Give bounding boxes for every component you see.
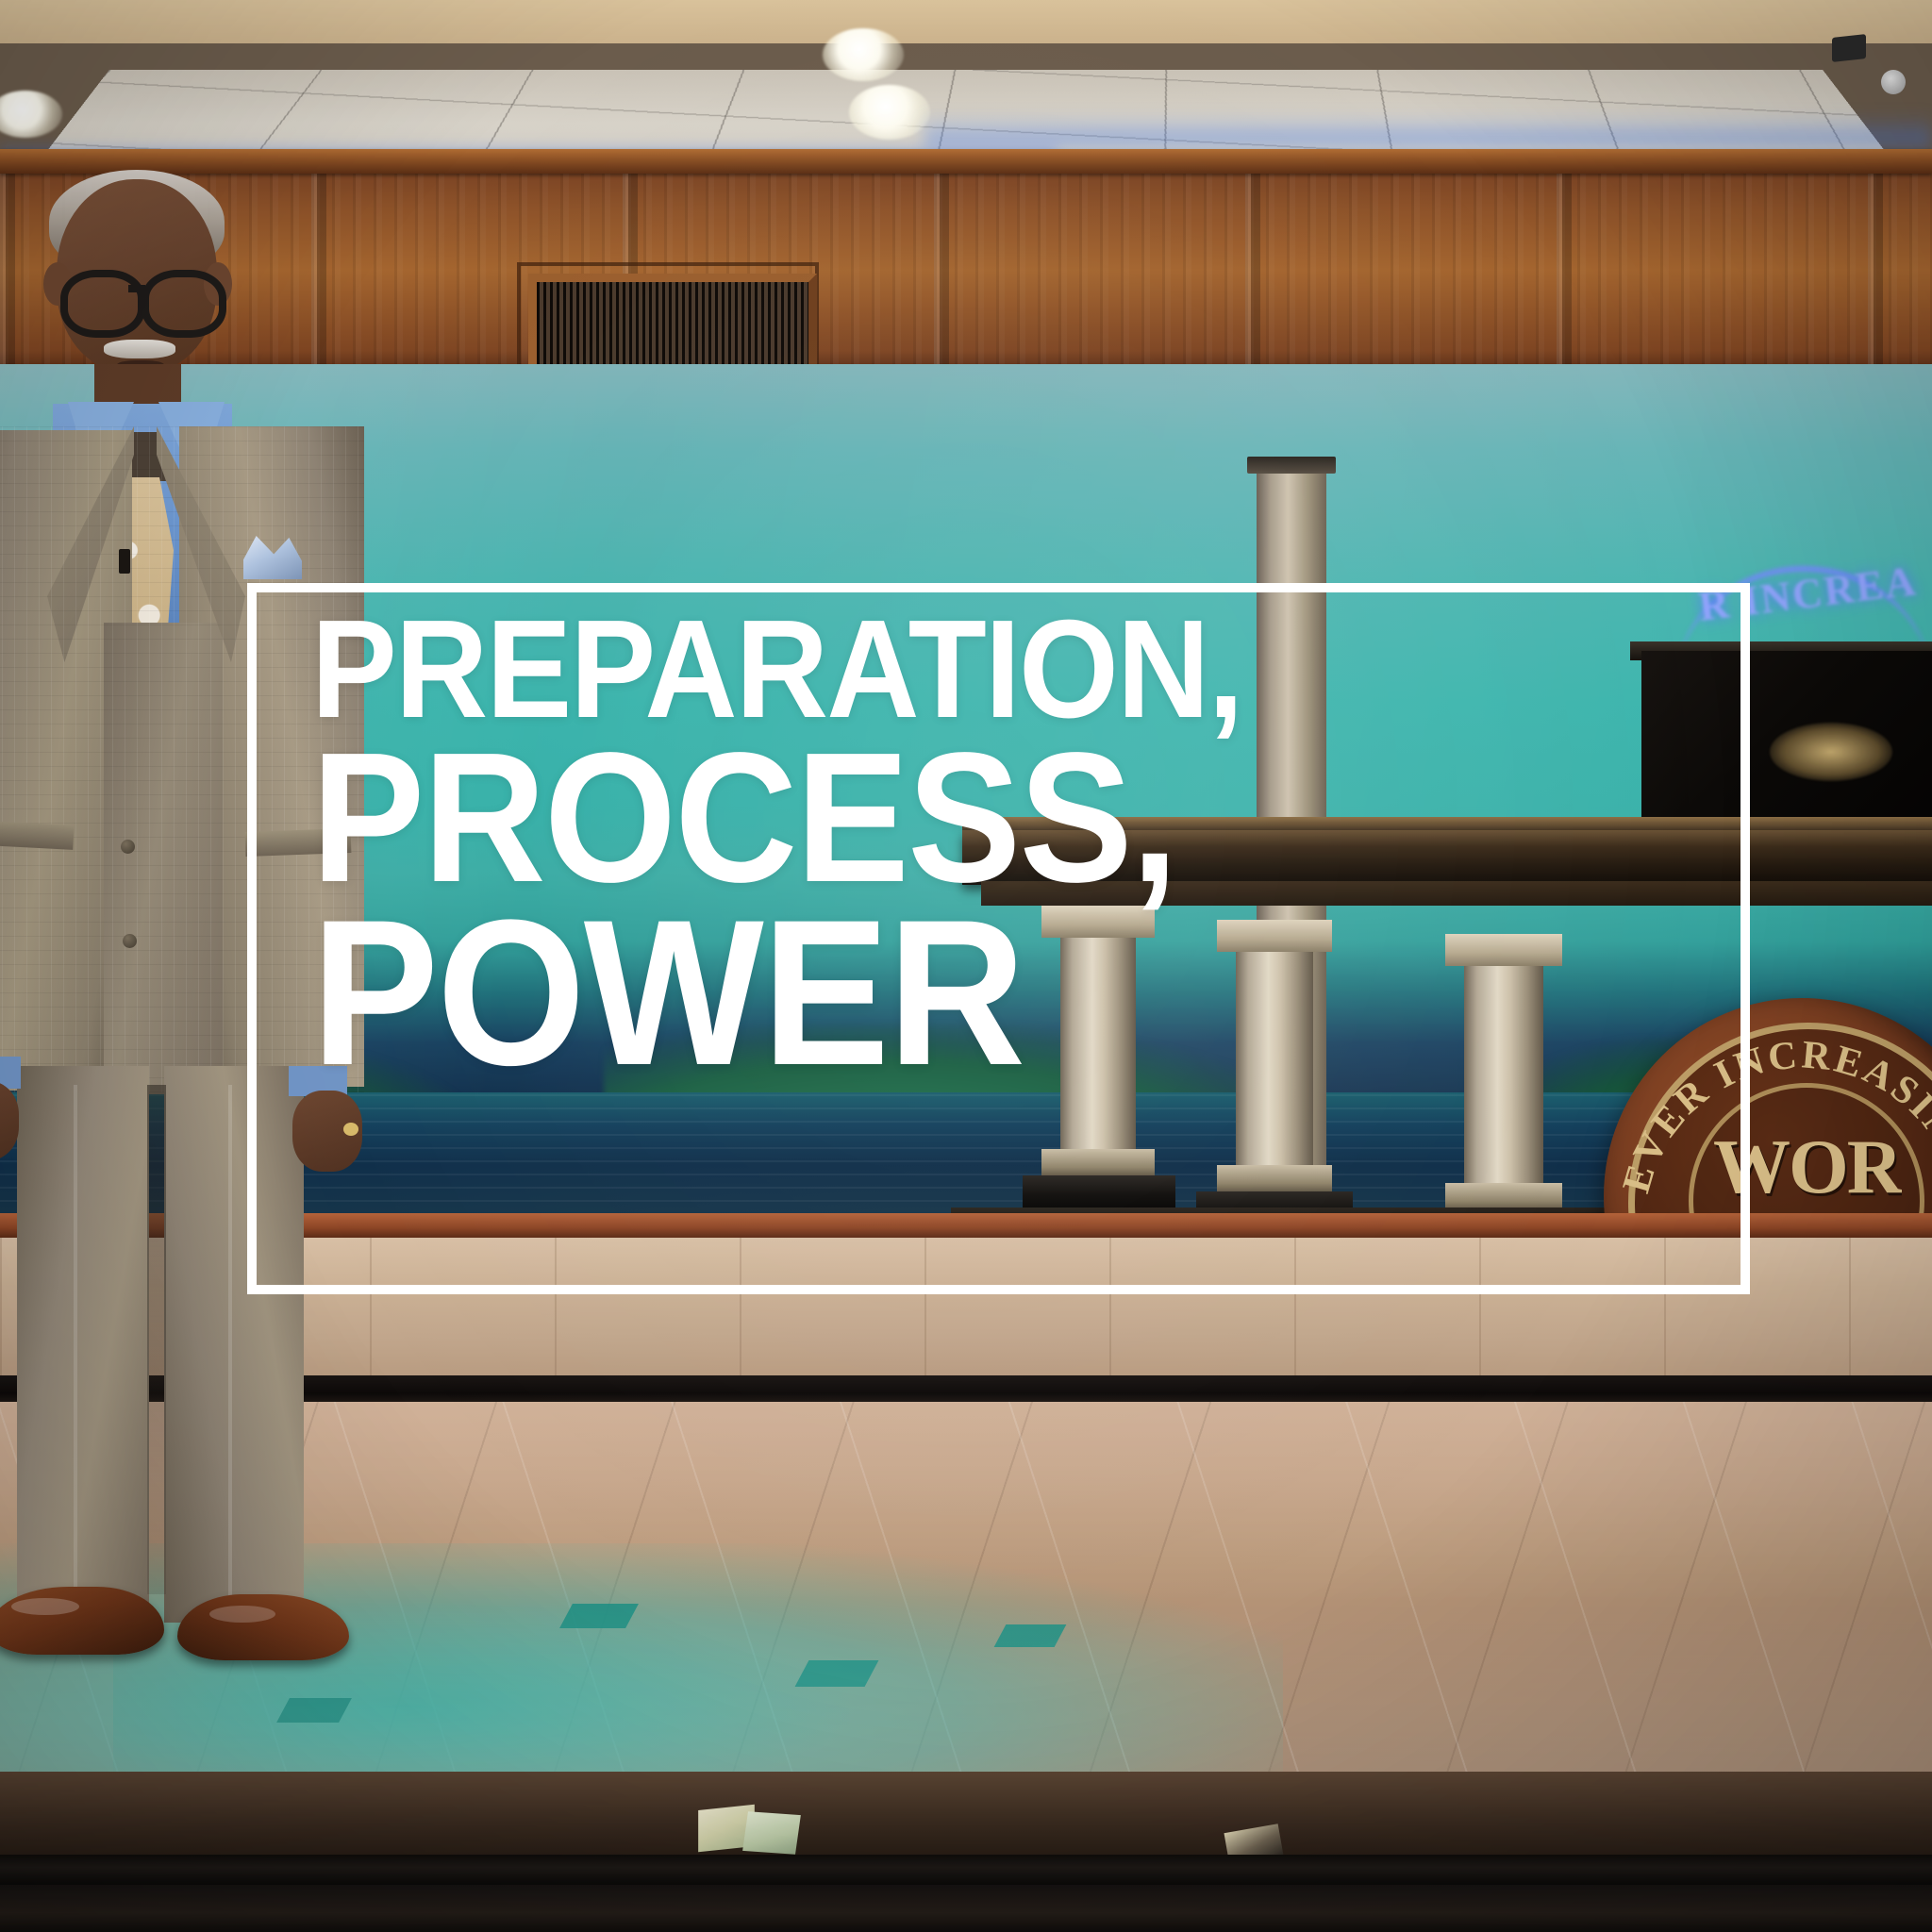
mustache bbox=[104, 340, 175, 358]
shoe-highlight-right bbox=[209, 1606, 275, 1623]
ceiling-light-icon bbox=[849, 85, 930, 140]
jacket-button bbox=[123, 934, 137, 948]
offering-bill bbox=[742, 1811, 801, 1855]
hand-left bbox=[0, 1081, 19, 1160]
title-line-3: POWER bbox=[311, 904, 1648, 1082]
title-line-2: PROCESS, bbox=[311, 739, 1648, 898]
trouser-inseam-shadow bbox=[147, 1085, 166, 1594]
glasses-bridge bbox=[128, 285, 145, 292]
shoe-highlight-left bbox=[11, 1598, 79, 1615]
screenshot-canvas: R INCREA EVER INCREASING WORD OF LIFE C … bbox=[0, 0, 1932, 1932]
platform-step-nosing bbox=[0, 1855, 1932, 1887]
security-camera-icon bbox=[1832, 34, 1866, 62]
trouser-crease-left bbox=[74, 1085, 77, 1613]
glasses-icon bbox=[142, 270, 226, 338]
shoe-right bbox=[177, 1594, 349, 1660]
pulpit-gold-crest bbox=[1770, 723, 1892, 781]
trouser-leg-left bbox=[17, 1066, 149, 1623]
ceiling-light-icon bbox=[0, 91, 62, 138]
lapel-microphone-icon bbox=[119, 549, 130, 574]
platform-step-face bbox=[0, 1772, 1932, 1862]
blue-cove-light-right bbox=[924, 113, 1932, 147]
jacket-button bbox=[121, 840, 135, 854]
shoe-left bbox=[0, 1587, 164, 1655]
title-text-block: PREPARATION, PROCESS, POWER bbox=[311, 609, 1764, 1082]
upper-wall bbox=[0, 0, 1932, 43]
title-line-1: PREPARATION, bbox=[311, 609, 1648, 729]
jacket-pocket-flap-left bbox=[0, 820, 75, 850]
glasses-icon bbox=[60, 270, 145, 338]
marble-pillar-tall-cap bbox=[1247, 457, 1336, 474]
platform-step-reflection bbox=[0, 1885, 1932, 1932]
trouser-crease-right bbox=[228, 1085, 232, 1613]
ceiling-dome-icon bbox=[1881, 70, 1906, 94]
ceiling-light-icon bbox=[823, 28, 904, 81]
shirt-cuff-left bbox=[0, 1057, 21, 1089]
crown-molding bbox=[0, 149, 1932, 174]
